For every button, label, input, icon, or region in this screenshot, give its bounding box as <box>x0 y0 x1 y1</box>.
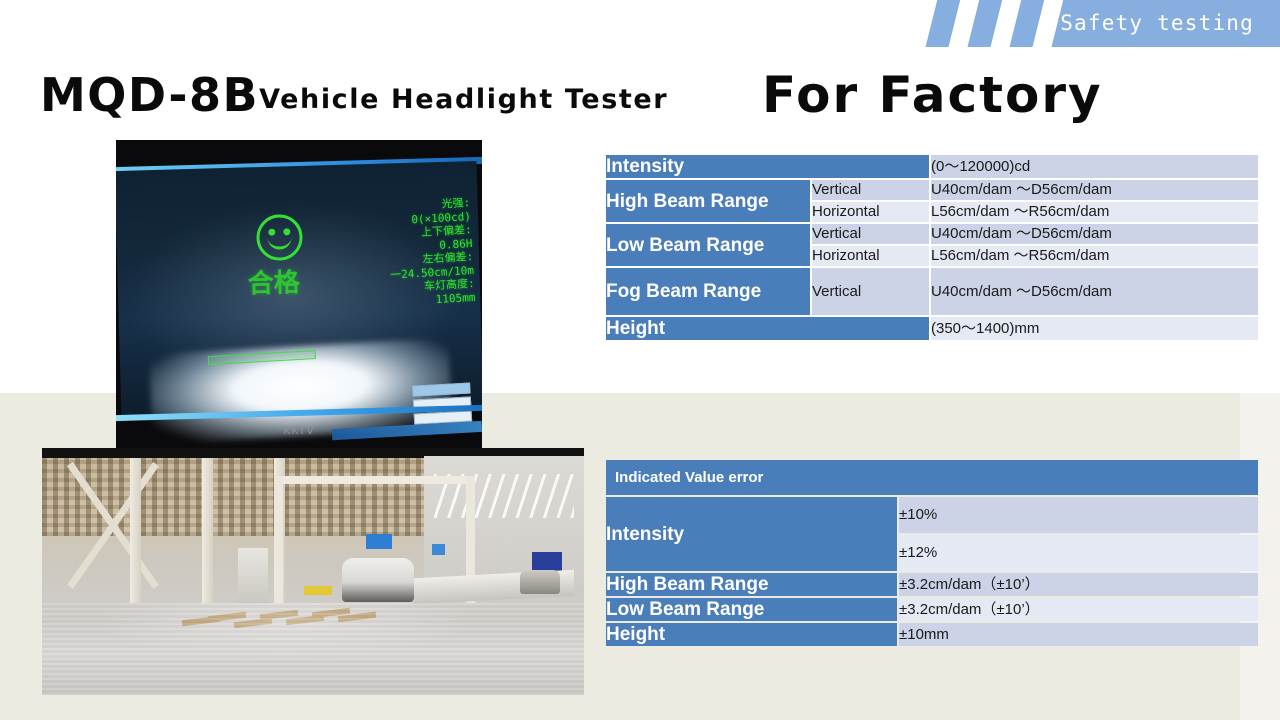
error-label-height: Height <box>606 623 897 646</box>
measurement-readout: 光强: 0(×100cd) 上下偏差: 0.86H 左右偏差: 一24.50cm… <box>386 196 476 309</box>
spec-value-intensity: (0～120000)cd <box>931 155 1258 178</box>
spec-value-high-horizontal: L56cm/dam ～R56cm/dam <box>931 202 1258 222</box>
spec-dir-low-horizontal: Horizontal <box>812 246 929 266</box>
error-value-high-beam-range: ±3.2cm/dam（±10’） <box>899 573 1258 596</box>
title-for-factory: For Factory <box>762 66 1103 124</box>
indicated-value-error-table: Indicated Value error Intensity ±10% ±12… <box>604 458 1260 648</box>
table-row: Low Beam Range ±3.2cm/dam（±10’） <box>606 598 1258 621</box>
error-label-intensity: Intensity <box>606 497 897 571</box>
spec-label-height: Height <box>606 317 929 340</box>
table-row: Fog Beam Range Vertical U40cm/dam ～D56cm… <box>606 268 1258 315</box>
spec-label-fog-beam-range: Fog Beam Range <box>606 268 810 315</box>
spec-dir-low-vertical: Vertical <box>812 224 929 244</box>
table-row: High Beam Range Vertical U40cm/dam ～D56c… <box>606 180 1258 200</box>
smiley-mouth <box>267 233 291 250</box>
table-row: Height ±10mm <box>606 623 1258 646</box>
factory-display-screen <box>366 534 392 549</box>
factory-control-cabinet <box>238 548 268 606</box>
factory-gantry-beam <box>274 476 474 484</box>
error-table-header: Indicated Value error <box>606 460 1258 495</box>
spec-label-low-beam-range: Low Beam Range <box>606 224 810 266</box>
pass-label: 合格 <box>247 262 300 300</box>
table-row: Intensity (0～120000)cd <box>606 155 1258 178</box>
error-value-low-beam-range: ±3.2cm/dam（±10’） <box>899 598 1258 621</box>
error-value-intensity-10: ±10% <box>899 497 1258 533</box>
error-value-height: ±10mm <box>899 623 1258 646</box>
photo-factory-line <box>42 448 584 695</box>
factory-gantry-post <box>274 476 283 608</box>
spec-value-high-vertical: U40cm/dam ～D56cm/dam <box>931 180 1258 200</box>
factory-vehicle <box>520 570 560 594</box>
title-model: MQD-8B <box>40 68 259 122</box>
spec-value-fog-vertical: U40cm/dam ～D56cm/dam <box>931 268 1258 315</box>
slide-root: Safety testing MQD-8BVehicle Headlight T… <box>0 0 1280 720</box>
error-value-intensity-12: ±12% <box>899 535 1258 571</box>
factory-cross-brace <box>46 460 136 590</box>
factory-vehicle <box>342 558 414 602</box>
spec-value-low-horizontal: L56cm/dam ～R56cm/dam <box>931 246 1258 266</box>
factory-safety-marking <box>304 586 332 595</box>
table-row: Indicated Value error <box>606 460 1258 495</box>
spec-value-height: (350～1400)mm <box>931 317 1258 340</box>
table-row: Low Beam Range Vertical U40cm/dam ～D56cm… <box>606 224 1258 244</box>
photo-tester-screen: 合格 光强: 0(×100cd) 上下偏差: 0.86H 左右偏差: 一24.5… <box>116 140 482 450</box>
spec-label-high-beam-range: High Beam Range <box>606 180 810 222</box>
banner-safety-testing: Safety testing <box>890 0 1280 47</box>
spec-label-intensity: Intensity <box>606 155 929 178</box>
table-row: Height (350～1400)mm <box>606 317 1258 340</box>
specification-table: Intensity (0～120000)cd High Beam Range V… <box>604 153 1260 342</box>
factory-floor-reflection <box>42 603 584 695</box>
spec-dir-high-vertical: Vertical <box>812 180 929 200</box>
spec-dir-high-horizontal: Horizontal <box>812 202 929 222</box>
table-row: Intensity ±10% <box>606 497 1258 533</box>
page-title: MQD-8BVehicle Headlight Tester <box>40 68 668 122</box>
spec-value-low-vertical: U40cm/dam ～D56cm/dam <box>931 224 1258 244</box>
monitor-brand-label: KKTV <box>116 424 482 437</box>
factory-column <box>202 458 213 608</box>
factory-display-screen <box>432 544 445 555</box>
spec-dir-fog-vertical: Vertical <box>812 268 929 315</box>
screen-button-1[interactable] <box>412 382 471 396</box>
table-row: High Beam Range ±3.2cm/dam（±10’） <box>606 573 1258 596</box>
factory-column <box>130 458 141 608</box>
error-label-high-beam-range: High Beam Range <box>606 573 897 596</box>
monitor-screen: 合格 光强: 0(×100cd) 上下偏差: 0.86H 左右偏差: 一24.5… <box>116 161 482 421</box>
title-product: Vehicle Headlight Tester <box>259 84 668 115</box>
banner-label: Safety testing <box>1060 0 1254 47</box>
error-label-low-beam-range: Low Beam Range <box>606 598 897 621</box>
